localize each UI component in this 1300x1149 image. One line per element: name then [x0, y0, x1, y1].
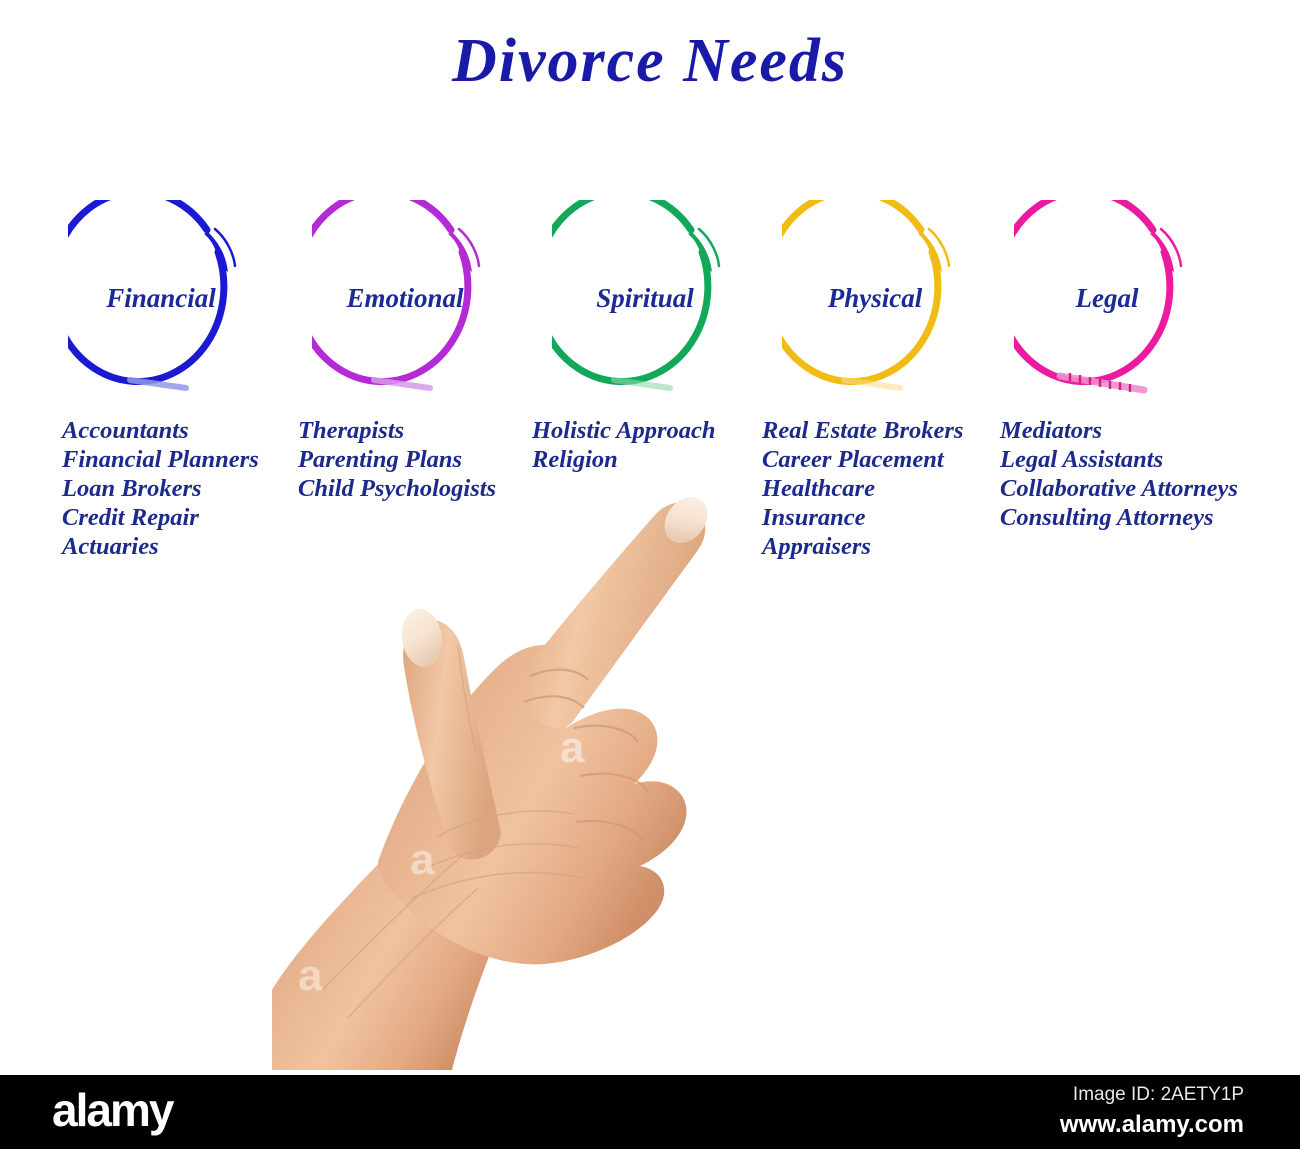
- forearm: [272, 820, 512, 1070]
- category-physical[interactable]: Physical Real Estate Brokers Career Plac…: [762, 200, 968, 396]
- watermark-mark: a: [560, 723, 585, 772]
- page-title: Divorce Needs: [0, 26, 1300, 97]
- item-list-financial: Accountants Financial Planners Loan Brok…: [62, 416, 259, 561]
- list-item: Insurance: [762, 503, 963, 532]
- list-item: Actuaries: [62, 532, 259, 561]
- item-list-legal: Mediators Legal Assistants Collaborative…: [1000, 416, 1238, 532]
- open-circle-arrow-icon: [1014, 200, 1200, 396]
- list-item: Credit Repair: [62, 503, 259, 532]
- category-financial[interactable]: Financial Accountants Financial Planners…: [62, 200, 254, 396]
- alamy-logo: alamy: [52, 1083, 172, 1137]
- open-circle-arrow-icon: [782, 200, 968, 396]
- hand-creases: [322, 646, 582, 1018]
- alamy-url-text: www.alamy.com: [1060, 1111, 1244, 1139]
- list-item: Holistic Approach: [532, 416, 716, 445]
- open-circle-arrow-icon: [312, 200, 498, 396]
- watermark-mark: a: [298, 951, 323, 1000]
- ring-spiritual: Spiritual: [552, 200, 738, 396]
- list-item: Religion: [532, 445, 716, 474]
- item-list-spiritual: Holistic Approach Religion: [532, 416, 716, 474]
- list-item: Child Psychologists: [298, 474, 496, 503]
- ring-emotional: Emotional: [312, 200, 498, 396]
- open-circle-arrow-icon: [68, 200, 254, 396]
- list-item: Healthcare: [762, 474, 963, 503]
- list-item: Appraisers: [762, 532, 963, 561]
- thumb: [403, 620, 500, 860]
- list-item: Collaborative Attorneys: [1000, 474, 1238, 503]
- watermark-bar: alamy Image ID: 2AETY1P www.alamy.com: [0, 1075, 1300, 1149]
- list-item: Legal Assistants: [1000, 445, 1238, 474]
- categories-row: Financial Accountants Financial Planners…: [0, 200, 1300, 620]
- list-item: Parenting Plans: [298, 445, 496, 474]
- list-item: Loan Brokers: [62, 474, 259, 503]
- palm: [378, 645, 686, 965]
- watermark-mark: a: [410, 835, 435, 884]
- category-legal[interactable]: Legal Mediators Legal Assistants Collabo…: [1000, 200, 1200, 396]
- list-item: Accountants: [62, 416, 259, 445]
- item-list-emotional: Therapists Parenting Plans Child Psychol…: [298, 416, 496, 503]
- ring-financial: Financial: [68, 200, 254, 396]
- list-item: Career Placement: [762, 445, 963, 474]
- list-item: Therapists: [298, 416, 496, 445]
- category-spiritual[interactable]: Spiritual Holistic Approach Religion: [532, 200, 738, 396]
- ring-legal: Legal: [1014, 200, 1200, 396]
- list-item: Mediators: [1000, 416, 1238, 445]
- list-item: Financial Planners: [62, 445, 259, 474]
- open-circle-arrow-icon: [552, 200, 738, 396]
- diagram-canvas: Divorce Needs Financial Accountants Fina…: [0, 0, 1300, 1149]
- ring-physical: Physical: [782, 200, 968, 396]
- list-item: Real Estate Brokers: [762, 416, 963, 445]
- knuckle-lines: [524, 670, 648, 842]
- category-emotional[interactable]: Emotional Therapists Parenting Plans Chi…: [298, 200, 498, 396]
- list-item: Consulting Attorneys: [1000, 503, 1238, 532]
- item-list-physical: Real Estate Brokers Career Placement Hea…: [762, 416, 963, 561]
- image-id-text: Image ID: 2AETY1P: [1073, 1084, 1244, 1106]
